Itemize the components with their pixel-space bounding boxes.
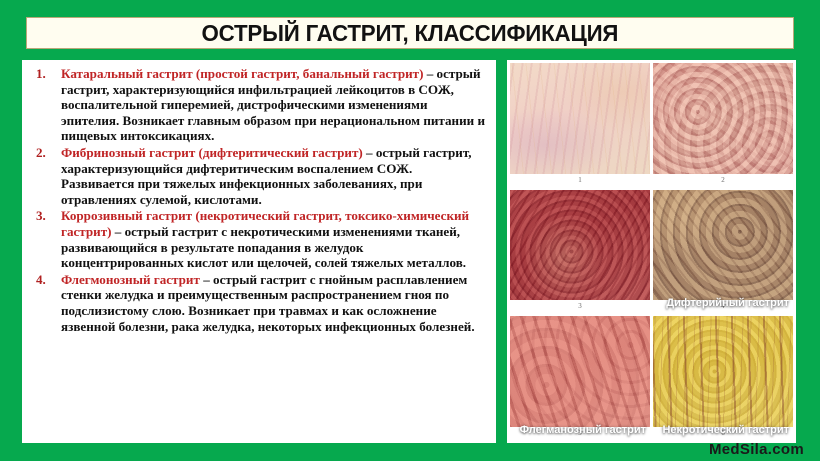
list-item-term: Флегмонозный гастрит <box>61 272 200 287</box>
site-watermark: MedSila.com <box>709 441 804 458</box>
specimen-photo-4 <box>653 190 793 301</box>
list-item-term: Фибринозный гастрит (дифтеритический гас… <box>61 145 363 160</box>
specimen-photo-6 <box>653 316 793 427</box>
page-title: ОСТРЫЙ ГАСТРИТ, КЛАССИФИКАЦИЯ <box>202 20 619 47</box>
specimen-photo-2 <box>653 63 793 174</box>
specimen-cell-5: Флегманозный гастрит 5 <box>510 316 650 440</box>
specimen-label-5: Флегманозный гастрит <box>520 424 646 437</box>
specimen-photo-3 <box>510 190 650 301</box>
list-item: 1. Катаральный гастрит (простой гастрит,… <box>30 66 488 144</box>
specimen-cell-1: 1 <box>510 63 650 187</box>
slide-root: ОСТРЫЙ ГАСТРИТ, КЛАССИФИКАЦИЯ 1. Катарал… <box>0 0 820 461</box>
classification-list: 1. Катаральный гастрит (простой гастрит,… <box>30 66 488 334</box>
list-item-number: 1. <box>36 66 46 82</box>
specimen-photo-1 <box>510 63 650 174</box>
specimen-cell-2: 2 <box>653 63 793 187</box>
specimen-number-3: 3 <box>510 300 650 313</box>
specimen-cell-4: Дифтерийный гастрит 4 <box>653 190 793 314</box>
list-item-number: 3. <box>36 208 46 224</box>
list-item-description: – острый гастрит с некротическими измене… <box>61 224 466 270</box>
list-item: 2. Фибринозный гастрит (дифтеритический … <box>30 145 488 207</box>
specimen-number-2: 2 <box>653 174 793 187</box>
list-item-term: Катаральный гастрит (простой гастрит, ба… <box>61 66 423 81</box>
specimen-image-grid: 1 2 3 Дифтерийный гастрит 4 Флегманозный… <box>507 60 796 443</box>
specimen-photo-5 <box>510 316 650 427</box>
classification-text-panel: 1. Катаральный гастрит (простой гастрит,… <box>22 60 496 443</box>
specimen-label-4: Дифтерийный гастрит <box>666 297 789 310</box>
list-item: 3. Коррозивный гастрит (некротический га… <box>30 208 488 270</box>
list-item-number: 4. <box>36 272 46 288</box>
list-item-number: 2. <box>36 145 46 161</box>
specimen-label-6: Некротический гастрит <box>662 424 789 437</box>
specimen-cell-3: 3 <box>510 190 650 314</box>
list-item: 4. Флегмонозный гастрит – острый гастрит… <box>30 272 488 334</box>
specimen-number-1: 1 <box>510 174 650 187</box>
slide-title-bar: ОСТРЫЙ ГАСТРИТ, КЛАССИФИКАЦИЯ <box>26 17 794 49</box>
specimen-cell-6: Некротический гастрит 6 <box>653 316 793 440</box>
